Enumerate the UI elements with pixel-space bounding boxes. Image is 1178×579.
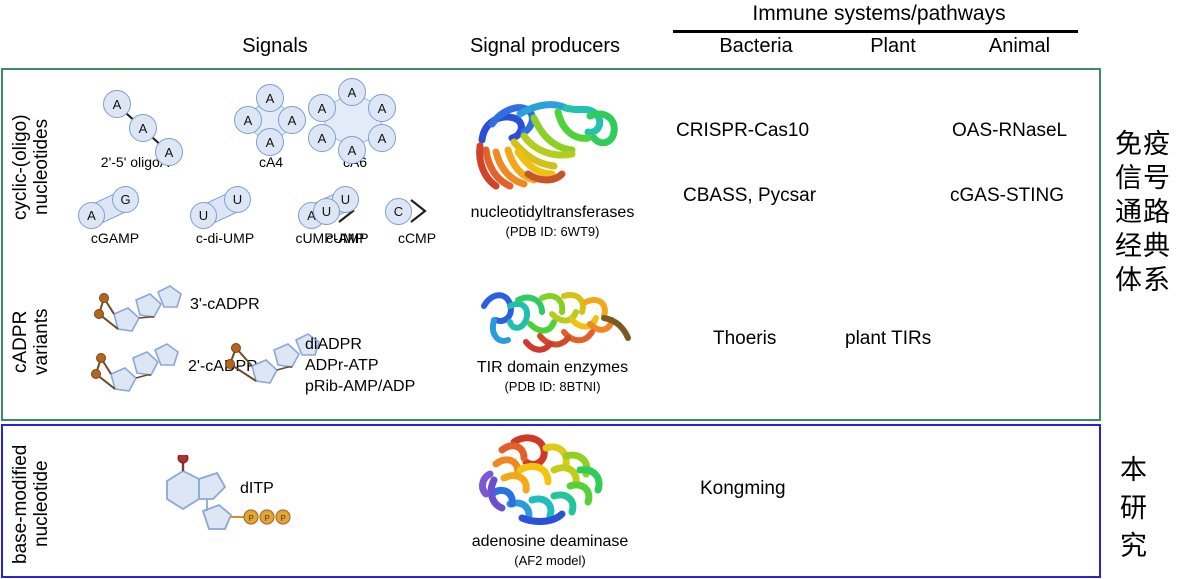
row-label-line-2: nucleotides [31, 119, 52, 215]
protein-ribbon-icon [468, 272, 636, 364]
header-rule [673, 30, 1078, 33]
nucleotide-node: A [155, 138, 183, 166]
nucleotide-node: U [224, 186, 251, 213]
signal-caption-dITP: dITP [240, 480, 330, 498]
svg-text:P: P [264, 514, 269, 523]
svg-text:P: P [280, 514, 285, 523]
cell-bacteria-kongming: Kongming [700, 478, 786, 500]
producer-label-tir-domain-enzymes: TIR domain enzymes (PDB ID: 8BTNI) [430, 358, 675, 396]
nucleotide-node: C [385, 198, 412, 225]
signal-cA6: A A A A A A [300, 78, 410, 158]
header-immune-systems: Immune systems/pathways [679, 2, 1079, 26]
cell-animal-cgas-sting: cGAS-STING [950, 185, 1064, 207]
cell-bacteria-thoeris: Thoeris [713, 328, 776, 350]
nucleotide-node: A [308, 94, 336, 122]
nucleotide-node: U [313, 198, 340, 225]
nucleotide-node: G [112, 186, 139, 213]
signal-c-di-UMP: U U [182, 186, 272, 230]
signal-caption-3prime-cADPR: 3'-cADPR [190, 296, 330, 314]
protein-ribbon-icon [458, 430, 638, 536]
nucleotide-node: A [308, 124, 336, 152]
signal-cGAMP: A G [70, 186, 160, 230]
nucleotide-node: A [234, 106, 262, 134]
row-label-cadpr-variants: cADPR variants [10, 272, 54, 412]
cell-animal-oas-rnasel: OAS-RNaseL [952, 120, 1067, 142]
nucleotide-node: A [278, 106, 306, 134]
cell-bacteria-cbass-pycsar: CBASS, Pycsar [683, 185, 816, 207]
cadpr-structure-icon [85, 338, 190, 400]
nucleotide-node: A [338, 136, 366, 164]
producer-source: (PDB ID: 6WT9) [430, 222, 675, 241]
row-label-line-1: cyclic-(oligo) [10, 114, 31, 220]
nucleotide-node: A [256, 128, 284, 156]
producer-label-nucleotidyltransferases: nucleotidyltransferases (PDB ID: 6WT9) [430, 203, 675, 241]
nucleotide-node: A [368, 94, 396, 122]
protein-ribbon-icon [462, 88, 642, 200]
side-label-classic-chinese: 免疫信号通路经典体系 [1108, 128, 1178, 298]
nucleotide-node: A [256, 84, 284, 112]
structure-adenosine-deaminase [458, 430, 638, 536]
header-bacteria: Bacteria [676, 35, 836, 58]
producer-name: nucleotidyltransferases [430, 203, 675, 222]
header-animal: Animal [952, 35, 1087, 58]
nucleotide-node: A [103, 90, 131, 118]
nucleotide-node: A [78, 202, 105, 229]
producer-source: (PDB ID: 8BTNI) [430, 377, 675, 396]
structure-nucleotidyltransferases [462, 88, 642, 200]
structure-tir-domain-enzymes [468, 272, 636, 364]
nucleotide-node: A [368, 124, 396, 152]
header-signal-producers: Signal producers [420, 35, 670, 58]
svg-text:P: P [248, 514, 253, 523]
row-label-base-modified-nucleotide: base-modified nucleotide [10, 434, 54, 574]
row-label-line-1: cADPR [10, 311, 31, 373]
producer-label-adenosine-deaminase: adenosine deaminase (AF2 model) [425, 532, 675, 570]
row-label-line-1: base-modified [10, 444, 31, 563]
signal-3prime-cADPR [88, 278, 193, 340]
producer-source: (AF2 model) [425, 551, 675, 570]
header-plant: Plant [838, 35, 948, 58]
nucleotide-node: A [338, 78, 366, 106]
signal-oligoA: A A A [95, 82, 205, 154]
side-label-this-study-chinese: 本研究 [1112, 452, 1156, 566]
row-label-line-2: nucleotide [31, 461, 52, 548]
signal-caption-diADPR: diADPR [305, 336, 475, 354]
nucleotide-node: A [129, 114, 157, 142]
signal-dITP: P P P [155, 455, 295, 542]
signal-2prime-cADPR [85, 338, 190, 400]
header-signals: Signals [180, 35, 370, 58]
producer-name: adenosine deaminase [425, 532, 675, 551]
cell-plant-tirs: plant TIRs [845, 328, 931, 350]
nucleotide-node: U [190, 202, 217, 229]
row-label-line-2: variants [31, 309, 52, 376]
cadpr-structure-icon [88, 278, 193, 340]
producer-name: TIR domain enzymes [430, 358, 675, 377]
cell-bacteria-crispr-cas10: CRISPR-Cas10 [676, 120, 809, 142]
signal-caption-oligoA: 2'-5' oligoA [60, 154, 210, 170]
